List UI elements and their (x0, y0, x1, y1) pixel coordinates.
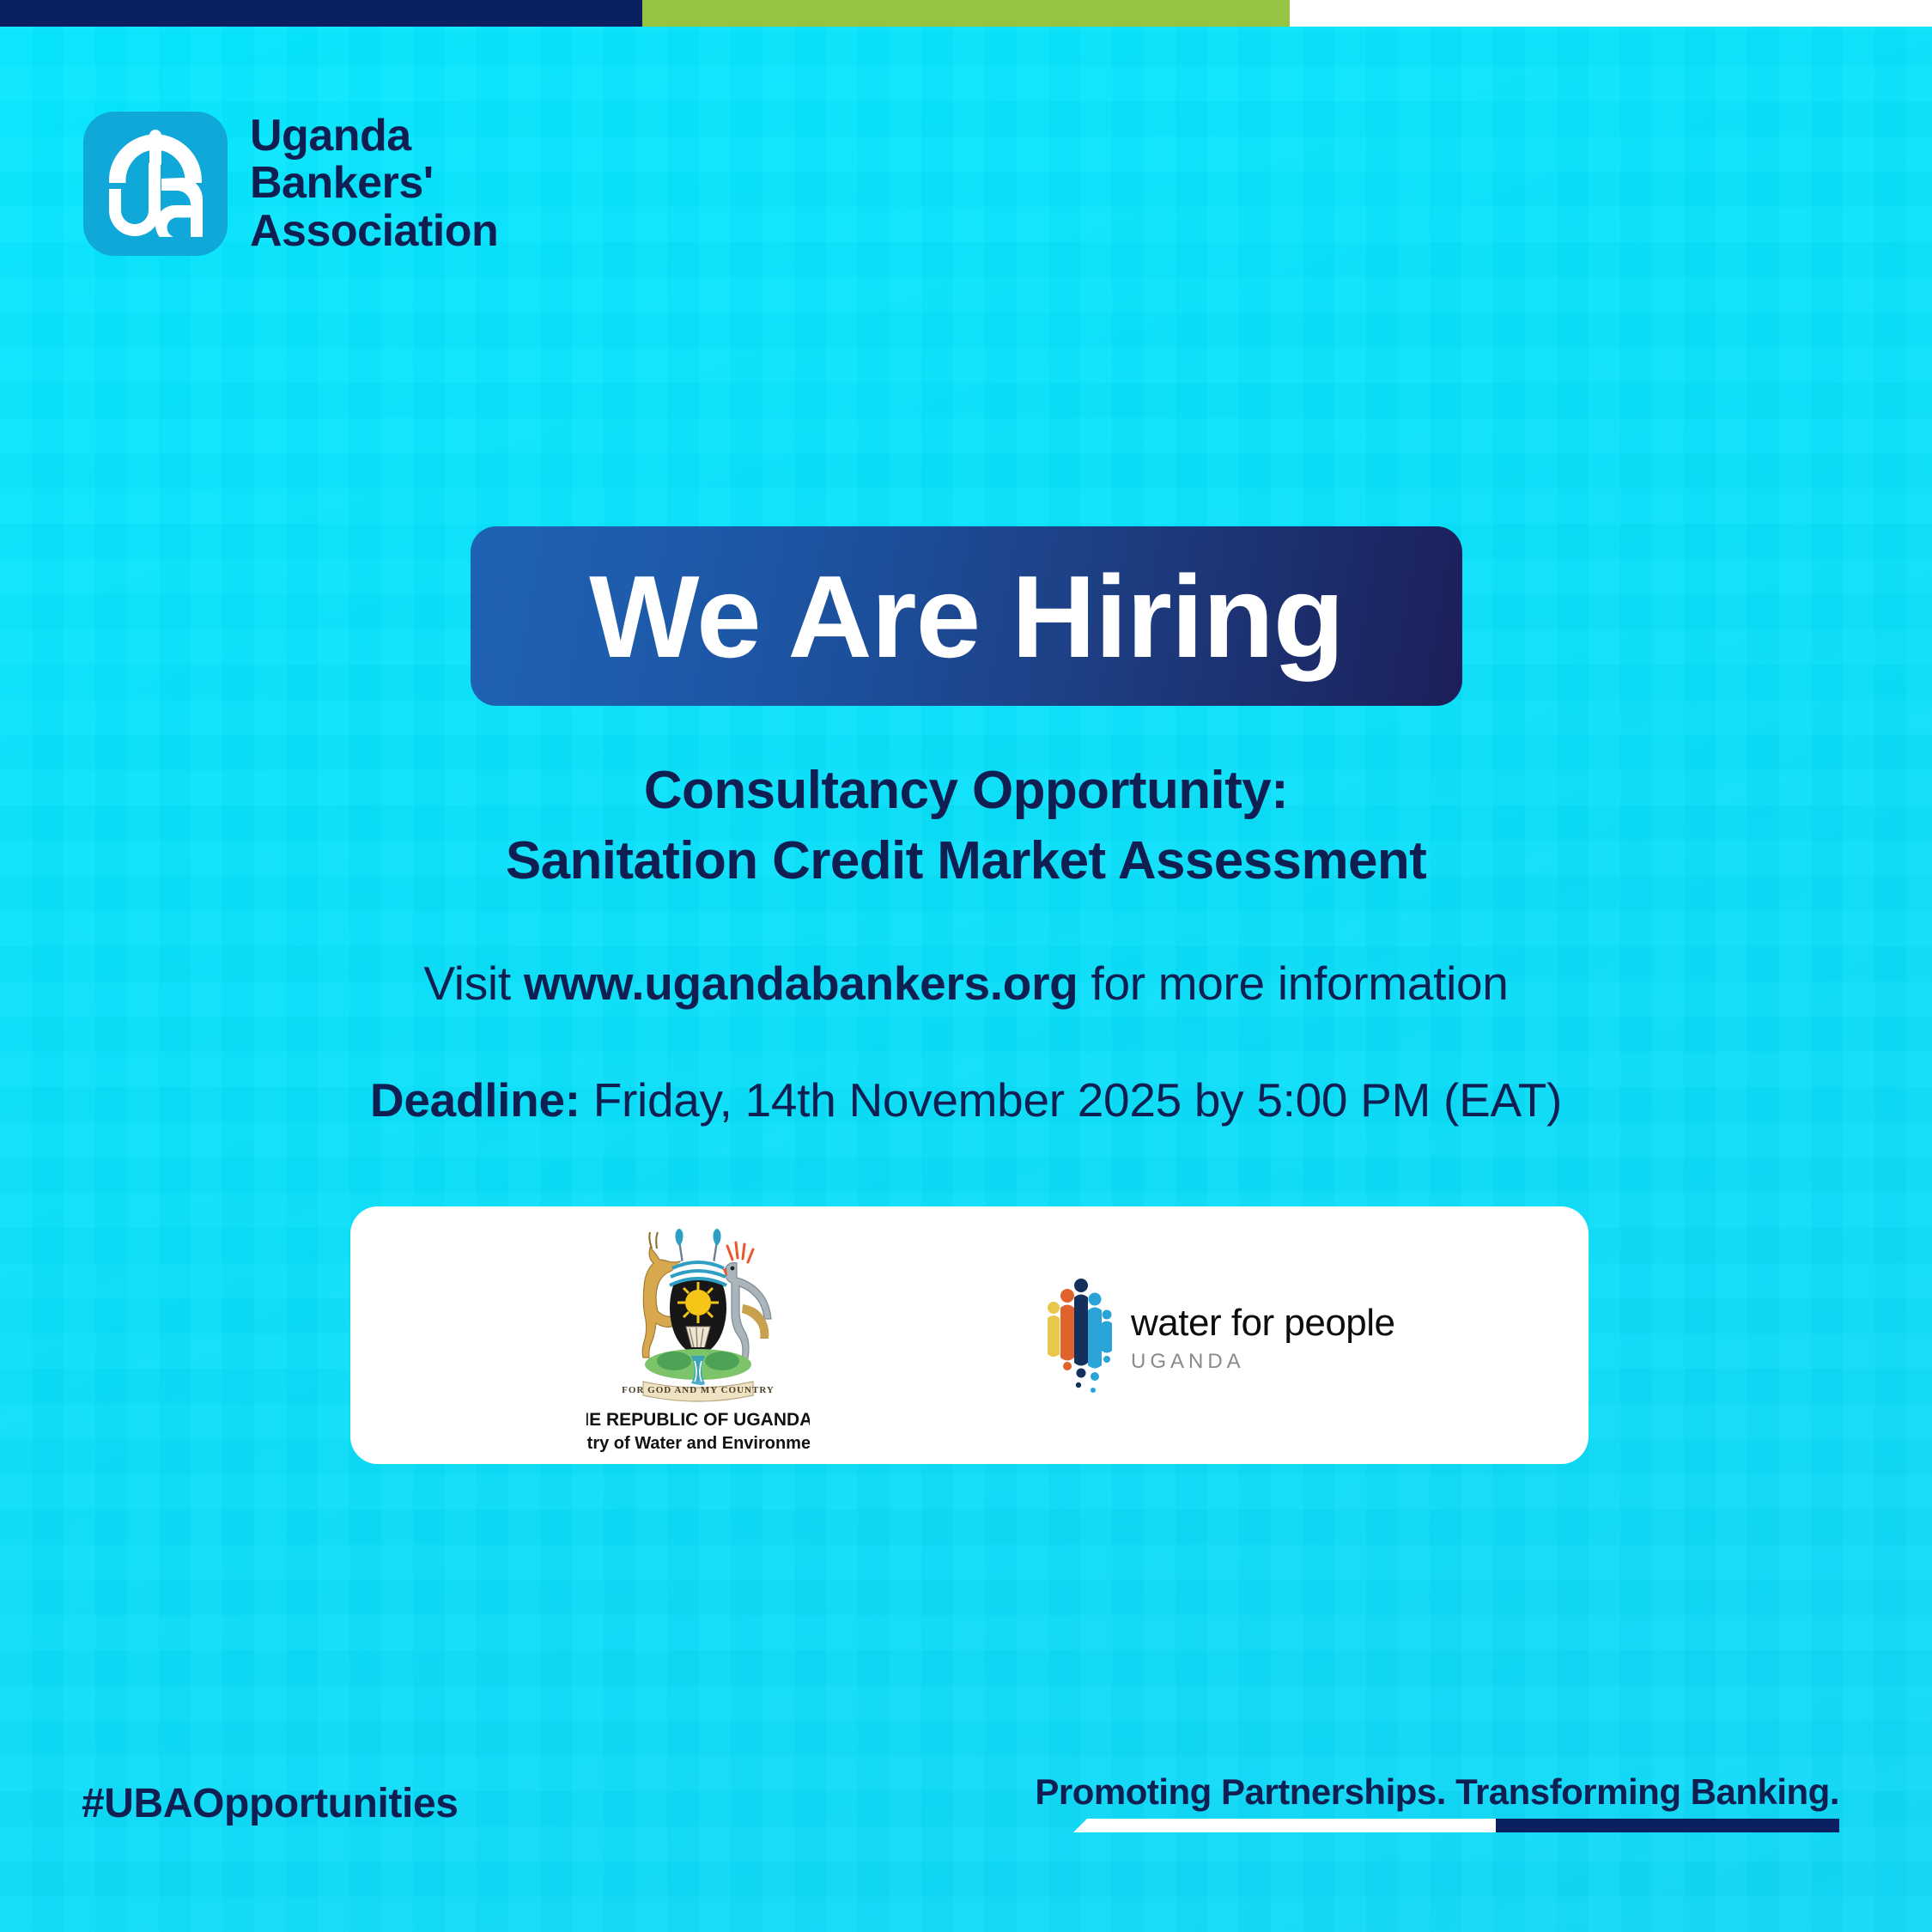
brand-tagline: Promoting Partnerships. Transforming Ban… (1035, 1771, 1839, 1813)
footer-bar-navy (1496, 1819, 1839, 1832)
website-url[interactable]: www.ugandabankers.org (524, 957, 1078, 1010)
uba-monogram-icon (83, 112, 228, 256)
visit-prefix: Visit (423, 957, 523, 1010)
brand-header: Uganda Bankers' Association (83, 112, 498, 256)
role-title-line-2: Sanitation Credit Market Assessment (0, 826, 1932, 896)
deadline-line: Deadline: Friday, 14th November 2025 by … (0, 1072, 1932, 1127)
water-for-people-name: water for people (1131, 1304, 1395, 1342)
government-of-uganda-logo: FOR GOD AND MY COUNTRY HE REPUBLIC OF UG… (586, 1225, 810, 1464)
deadline-value: Friday, 14th November 2025 by 5:00 PM (E… (580, 1073, 1562, 1127)
brand-line-2: Bankers' (250, 160, 498, 207)
top-accent-bar (0, 0, 1932, 27)
footer-accent-bars (1073, 1819, 1839, 1832)
visit-suffix: for more information (1078, 957, 1508, 1010)
top-bar-segment-navy (0, 0, 642, 27)
footer-bar-white (1073, 1819, 1496, 1832)
water-for-people-country: UGANDA (1131, 1352, 1395, 1372)
water-for-people-logo: water for people UGANDA (1042, 1273, 1395, 1402)
visit-line: Visit www.ugandabankers.org for more inf… (0, 956, 1932, 1011)
government-title: HE REPUBLIC OF UGANDA (586, 1411, 810, 1429)
role-title-line-1: Consultancy Opportunity: (0, 756, 1932, 826)
water-for-people-icon (1042, 1273, 1112, 1402)
hiring-headline: We Are Hiring (589, 558, 1344, 675)
campaign-hashtag: #UBAOpportunities (82, 1780, 459, 1827)
government-ministry: istry of Water and Environment (586, 1435, 806, 1452)
svg-text:FOR GOD AND MY COUNTRY: FOR GOD AND MY COUNTRY (622, 1385, 775, 1395)
brand-line-3: Association (250, 208, 498, 255)
hiring-banner: We Are Hiring (471, 526, 1462, 706)
uganda-coat-of-arms-icon: FOR GOD AND MY COUNTRY (612, 1225, 784, 1410)
deadline-label: Deadline: (370, 1073, 580, 1127)
top-bar-segment-green (642, 0, 1290, 27)
top-bar-segment-white (1290, 0, 1932, 27)
brand-line-1: Uganda (250, 112, 498, 160)
partner-logos-panel: FOR GOD AND MY COUNTRY HE REPUBLIC OF UG… (350, 1206, 1589, 1464)
brand-wordmark: Uganda Bankers' Association (250, 112, 498, 254)
announcement-copy: Consultancy Opportunity: Sanitation Cred… (0, 756, 1932, 1127)
